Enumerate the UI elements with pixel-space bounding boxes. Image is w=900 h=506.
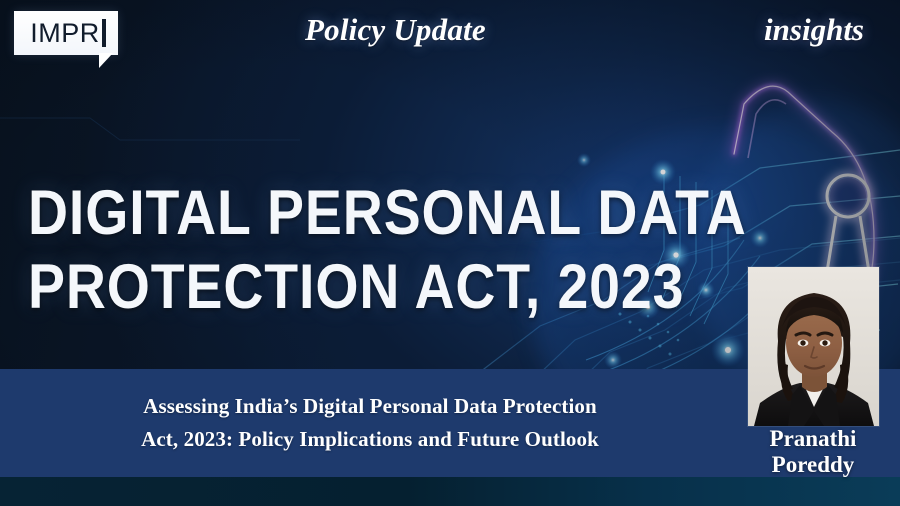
logo-bar-accent xyxy=(102,19,106,47)
logo-tail-shape xyxy=(99,53,113,68)
author-name-line-1: Pranathi xyxy=(726,426,900,452)
headline-line-2: PROTECTION ACT, 2023 xyxy=(28,250,582,324)
author-avatar xyxy=(748,267,879,426)
impr-logo[interactable]: IMPR xyxy=(14,11,118,55)
policy-update-poster: IMPR Policy Update insights DIGITAL PERS… xyxy=(0,0,900,506)
page-title: DIGITAL PERSONAL DATA PROTECTION ACT, 20… xyxy=(28,176,658,324)
header-insights-label: insights xyxy=(764,12,864,48)
author-name-line-2: Poreddy xyxy=(726,452,900,478)
subtitle-line-1: Assessing India’s Digital Personal Data … xyxy=(143,390,597,423)
subtitle-text-block: Assessing India’s Digital Personal Data … xyxy=(0,369,740,477)
headline-line-1: DIGITAL PERSONAL DATA xyxy=(28,176,582,250)
header-policy-update-label: Policy Update xyxy=(305,12,486,48)
bottom-accent-strip xyxy=(0,477,900,506)
subtitle-line-2: Act, 2023: Policy Implications and Futur… xyxy=(141,423,599,456)
author-name: Pranathi Poreddy xyxy=(726,426,900,478)
impr-logo-text: IMPR xyxy=(30,20,102,47)
